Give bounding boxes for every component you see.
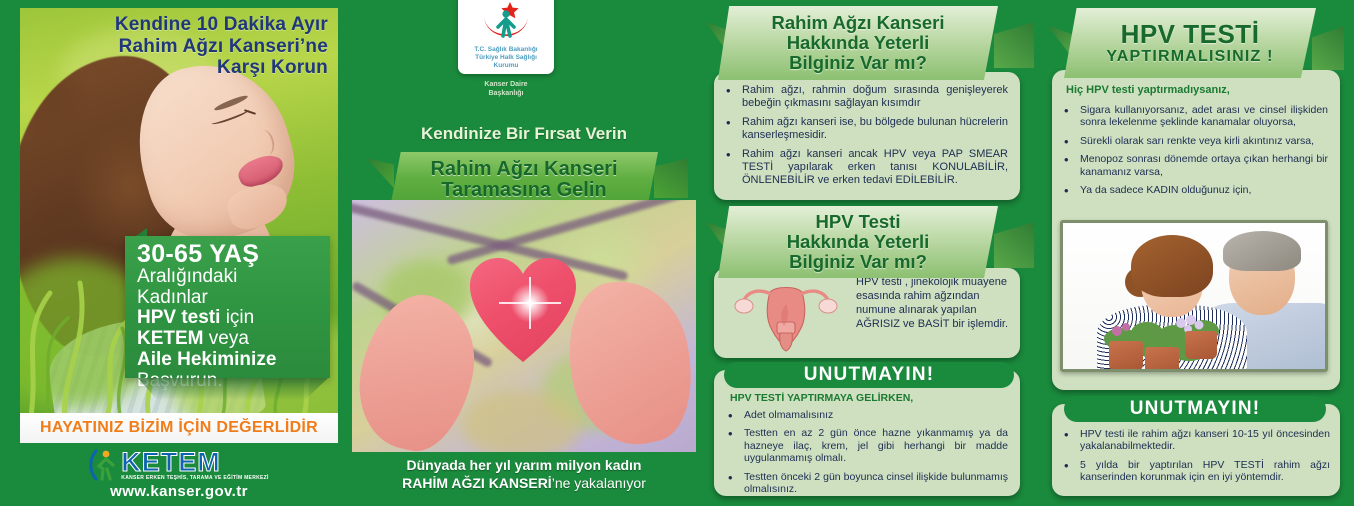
panel4-bullet-list: Sigara kullanıyorsanız, adet arası ve ci…: [1058, 104, 1328, 196]
section1-content-card: Rahim ağzı, rahmin doğum sırasında geniş…: [714, 72, 1020, 200]
list-item: Sigara kullanıyorsanız, adet arası ve ci…: [1058, 104, 1328, 129]
section2-body-text: HPV testi , jinekolojik muayene esasında…: [856, 276, 1012, 331]
panel2-caption-bold: RAHİM AĞZI KANSERİ: [402, 475, 552, 491]
ministry-line-3: Kurumu: [458, 62, 554, 70]
panel4-title-line-2: YAPTIRMALISINIZ !: [1106, 48, 1273, 65]
panel2-caption-line-2: RAHİM AĞZI KANSERİ’ne yakalanıyor: [352, 474, 696, 492]
panel4-ribbon-wing-right: [1312, 26, 1344, 70]
section3-reminder-label: UNUTMAYIN!: [804, 364, 935, 386]
heart-sparkle-icon: [507, 280, 553, 326]
ketem-tagline: KANSER ERKEN TEŞHİS, TARAMA VE EĞİTİM ME…: [121, 475, 268, 481]
list-item: Rahim ağzı kanseri ise, bu bölgede bulun…: [720, 116, 1008, 142]
callout-line-4: HPV testi için: [137, 308, 320, 329]
section2-title-line-2: Hakkında Yeterli: [787, 232, 930, 252]
section1-ribbon-title: Rahim Ağzı Kanseri Hakkında Yeterli Bilg…: [718, 6, 998, 80]
panel4-reminder-label: UNUTMAYIN!: [1130, 398, 1261, 420]
cover-strapline-bar: HAYATINIZ BİZİM İÇİN DEĞERLİDİR: [20, 413, 338, 443]
ketem-figure-icon: [89, 449, 117, 481]
section2-ribbon-wing-right: [994, 222, 1034, 268]
section2-ribbon-title: HPV Testi Hakkında Yeterli Bilginiz Var …: [718, 206, 998, 278]
section1-title-line-1: Rahim Ağzı Kanseri: [771, 13, 944, 33]
panel2-ribbon-line-2: Taramasına Gelin: [441, 180, 606, 201]
callout-line-5-rest: veya: [204, 328, 249, 349]
section3-bullet-list: Adet olmamalısınız Testten en az 2 gün ö…: [722, 409, 1008, 495]
section1-ribbon-wing-right: [994, 22, 1034, 68]
department-line-1: Kanser Daire: [458, 80, 554, 89]
list-item: Sürekli olarak sarı renkte veya kirli ak…: [1058, 135, 1328, 147]
panel2-ribbon-wing-right: [654, 158, 688, 198]
panel4-reminder-pill: UNUTMAYIN!: [1064, 396, 1326, 422]
panel2-caption-rest: ’ne yakalanıyor: [552, 475, 646, 491]
list-item: Rahim ağzı, rahmin doğum sırasında geniş…: [720, 84, 1008, 110]
man-hair: [1223, 231, 1301, 271]
callout-hpv-bold: HPV testi: [137, 307, 220, 328]
callout-line-4-rest: için: [220, 307, 254, 328]
list-item: 5 yılda bir yaptırılan HPV TESTİ rahim a…: [1058, 459, 1330, 484]
invitation-panel: T.C. Sağlık Bakanlığı Türkiye Halk Sağlı…: [352, 0, 696, 502]
list-item: Ya da sadece KADIN olduğunuz için,: [1058, 184, 1328, 196]
panel4-reminder-bullet-list: HPV testi ile rahim ağzı kanseri 10-15 y…: [1058, 428, 1330, 484]
poster-root: Kendine 10 Dakika Ayır Rahim Ağzı Kanser…: [0, 0, 1354, 502]
section1-bullet-list: Rahim ağzı, rahmin doğum sırasında geniş…: [720, 84, 1008, 187]
section3-reminder-pill: UNUTMAYIN!: [724, 362, 1014, 388]
list-item: HPV testi ile rahim ağzı kanseri 10-15 y…: [1058, 428, 1330, 453]
section2-title-line-3: Bilginiz Var mı?: [789, 252, 927, 272]
callout-line-2: Aralığındaki: [137, 267, 320, 288]
panel2-caption-line-1: Dünyada her yıl yarım milyon kadın: [352, 456, 696, 474]
section3-content-card: HPV TESTİ YAPTIRMAYA GELİRKEN, Adet olma…: [714, 370, 1020, 496]
woman-hair: [1131, 235, 1213, 297]
list-item: Testten önceki 2 gün boyunca cinsel iliş…: [722, 471, 1008, 496]
panel2-caption: Dünyada her yıl yarım milyon kadın RAHİM…: [352, 456, 696, 492]
cover-callout-box: 30-65 YAŞ Aralığındaki Kadınlar HPV test…: [125, 236, 330, 378]
ketem-logo: KETEM KANSER ERKEN TEŞHİS, TARAMA VE EĞİ…: [89, 449, 268, 481]
section3-lead-text: HPV TESTİ YAPTIRMAYA GELİRKEN,: [730, 392, 1008, 404]
panel4-ribbon-title: HPV TESTİ YAPTIRMALISINIZ !: [1064, 8, 1316, 78]
department-line-2: Başkanlığı: [458, 89, 554, 98]
hands-holding-heart-photo: [352, 200, 696, 452]
section2-content-card: HPV testi , jinekolojik muayene esasında…: [714, 268, 1020, 358]
ministry-logo-card: T.C. Sağlık Bakanlığı Türkiye Halk Sağlı…: [458, 0, 554, 74]
info-panel-hpv-test: HPV TESTİ YAPTIRMALISINIZ ! Hiç HPV test…: [1046, 0, 1346, 502]
callout-ketem-bold: KETEM: [137, 328, 204, 349]
panel4-content-card: Hiç HPV testi yaptırmadıysanız, Sigara k…: [1052, 70, 1340, 390]
info-panel-cervical-cancer: Rahim Ağzı Kanseri Hakkında Yeterli Bilg…: [706, 0, 1036, 502]
section1-title-line-2: Hakkında Yeterli: [787, 33, 930, 53]
cover-headline-line-2: Rahim Ağzı Kanseri’ne: [48, 36, 328, 58]
cover-footer: KETEM KANSER ERKEN TEŞHİS, TARAMA VE EĞİ…: [20, 443, 338, 506]
cover-headline-line-3: Karşı Korun: [48, 57, 328, 79]
elderly-couple-photo: [1060, 220, 1328, 372]
flower-pot-3: [1185, 331, 1217, 359]
section2-title-line-1: HPV Testi: [816, 212, 901, 232]
list-item: Rahim ağzı kanseri ancak HPV veya PAP SM…: [720, 148, 1008, 187]
ministry-line-1: T.C. Sağlık Bakanlığı: [458, 46, 554, 54]
ministry-line-2: Türkiye Halk Sağlığı: [458, 54, 554, 62]
panel2-ribbon-wing-left: [366, 158, 394, 188]
callout-line-6: Aile Hekiminize: [137, 350, 320, 371]
cover-headline-line-1: Kendine 10 Dakika Ayır: [48, 14, 328, 36]
list-item: Menopoz sonrası dönemde ortaya çıkan her…: [1058, 153, 1328, 178]
leaflet-cover-panel: Kendine 10 Dakika Ayır Rahim Ağzı Kanser…: [20, 8, 338, 498]
ketem-website-url[interactable]: www.kanser.gov.tr: [110, 483, 248, 500]
callout-age-range: 30-65 YAŞ: [137, 242, 320, 267]
panel4-lead-text: Hiç HPV testi yaptırmadıysanız,: [1066, 84, 1328, 96]
callout-line-3: Kadınlar: [137, 288, 320, 309]
section1-title-line-3: Bilginiz Var mı?: [789, 53, 927, 73]
list-item: Testten en az 2 gün önce hazne yıkanmamı…: [722, 427, 1008, 464]
flower-pot-1: [1109, 341, 1143, 371]
blurred-foliage-3: [462, 390, 582, 452]
ministry-department-caption: Kanser Daire Başkanlığı: [458, 80, 554, 98]
tree-branch-2: [446, 200, 696, 265]
ketem-wordmark: KETEM: [121, 449, 268, 476]
ministry-logo-text: T.C. Sağlık Bakanlığı Türkiye Halk Sağlı…: [458, 46, 554, 70]
uterus-diagram-icon: [722, 276, 850, 352]
panel2-ribbon-line-1: Rahim Ağzı Kanseri: [430, 159, 617, 180]
callout-line-5: KETEM veya: [137, 329, 320, 350]
cover-strapline: HAYATINIZ BİZİM İÇİN DEĞERLİDİR: [40, 419, 318, 437]
ketem-wordmark-stack: KETEM KANSER ERKEN TEŞHİS, TARAMA VE EĞİ…: [121, 449, 268, 481]
list-item: Adet olmamalısınız: [722, 409, 1008, 421]
flower-pot-2: [1145, 347, 1179, 372]
greenbox-fold-bottom: [138, 378, 328, 400]
panel4-title-line-1: HPV TESTİ: [1121, 20, 1260, 48]
panel2-pretitle: Kendinize Bir Fırsat Verin: [352, 124, 696, 144]
cover-headline: Kendine 10 Dakika Ayır Rahim Ağzı Kanser…: [48, 14, 328, 79]
